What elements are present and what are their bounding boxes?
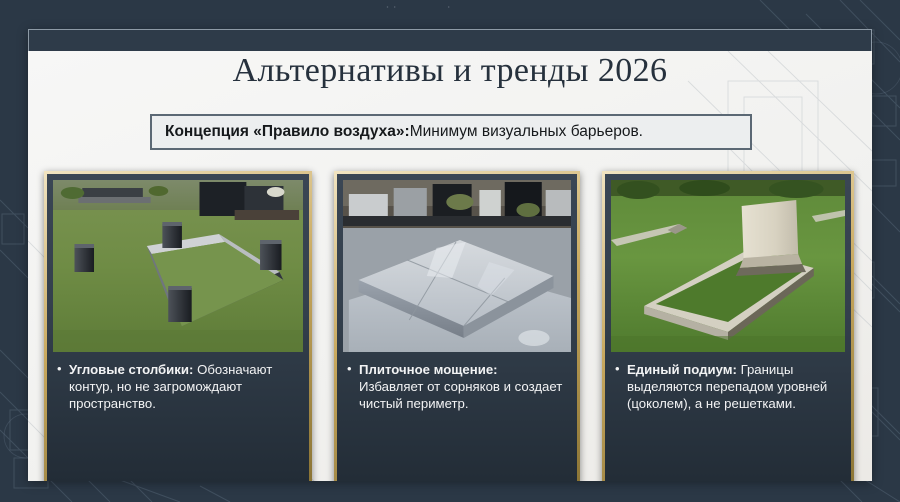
card-top-band [28, 29, 872, 51]
caption-tiled-paving: • Плиточное мощение: Избавляет от сорняк… [343, 352, 571, 412]
concept-rest: Минимум визуальных барьеров. [410, 123, 643, 141]
caption-text: Единый подиум: Границы выделяются перепа… [627, 361, 839, 412]
cropped-top-text: последний акцент — минимализм [345, 6, 560, 22]
photo-single-podium-headstone [611, 180, 845, 352]
caption-lead: Плиточное мощение: [359, 362, 498, 377]
bullet-icon: • [57, 361, 69, 412]
caption-text: Плиточное мощение: Избавляет от сорняков… [359, 361, 565, 412]
bullet-icon: • [615, 361, 627, 412]
panel-single-podium[interactable]: • Единый подиум: Границы выделяются пере… [602, 171, 854, 481]
caption-corner-posts: • Угловые столбики: Обозначают контур, н… [53, 352, 303, 412]
bullet-icon: • [347, 361, 359, 412]
concept-callout: Концепция «Правило воздуха»: Минимум виз… [150, 114, 752, 150]
panel-tiled-paving[interactable]: • Плиточное мощение: Избавляет от сорняк… [334, 171, 580, 481]
panel-corner-posts[interactable]: • Угловые столбики: Обозначают контур, н… [44, 171, 312, 481]
caption-text: Угловые столбики: Обозначают контур, но … [69, 361, 297, 412]
caption-single-podium: • Единый подиум: Границы выделяются пере… [611, 352, 845, 412]
caption-rest: Избавляет от сорняков и создает чистый п… [359, 379, 562, 411]
slide-card: Альтернативы и тренды 2026 Концепция «Пр… [28, 29, 872, 481]
concept-lead: Концепция «Правило воздуха»: [165, 123, 410, 141]
photo-tiled-granite-paving [343, 180, 571, 352]
page-title: Альтернативы и тренды 2026 [28, 52, 872, 90]
caption-lead: Угловые столбики: [69, 362, 193, 377]
photo-corner-posts-grave-plot [53, 180, 303, 352]
caption-lead: Единый подиум: [627, 362, 737, 377]
